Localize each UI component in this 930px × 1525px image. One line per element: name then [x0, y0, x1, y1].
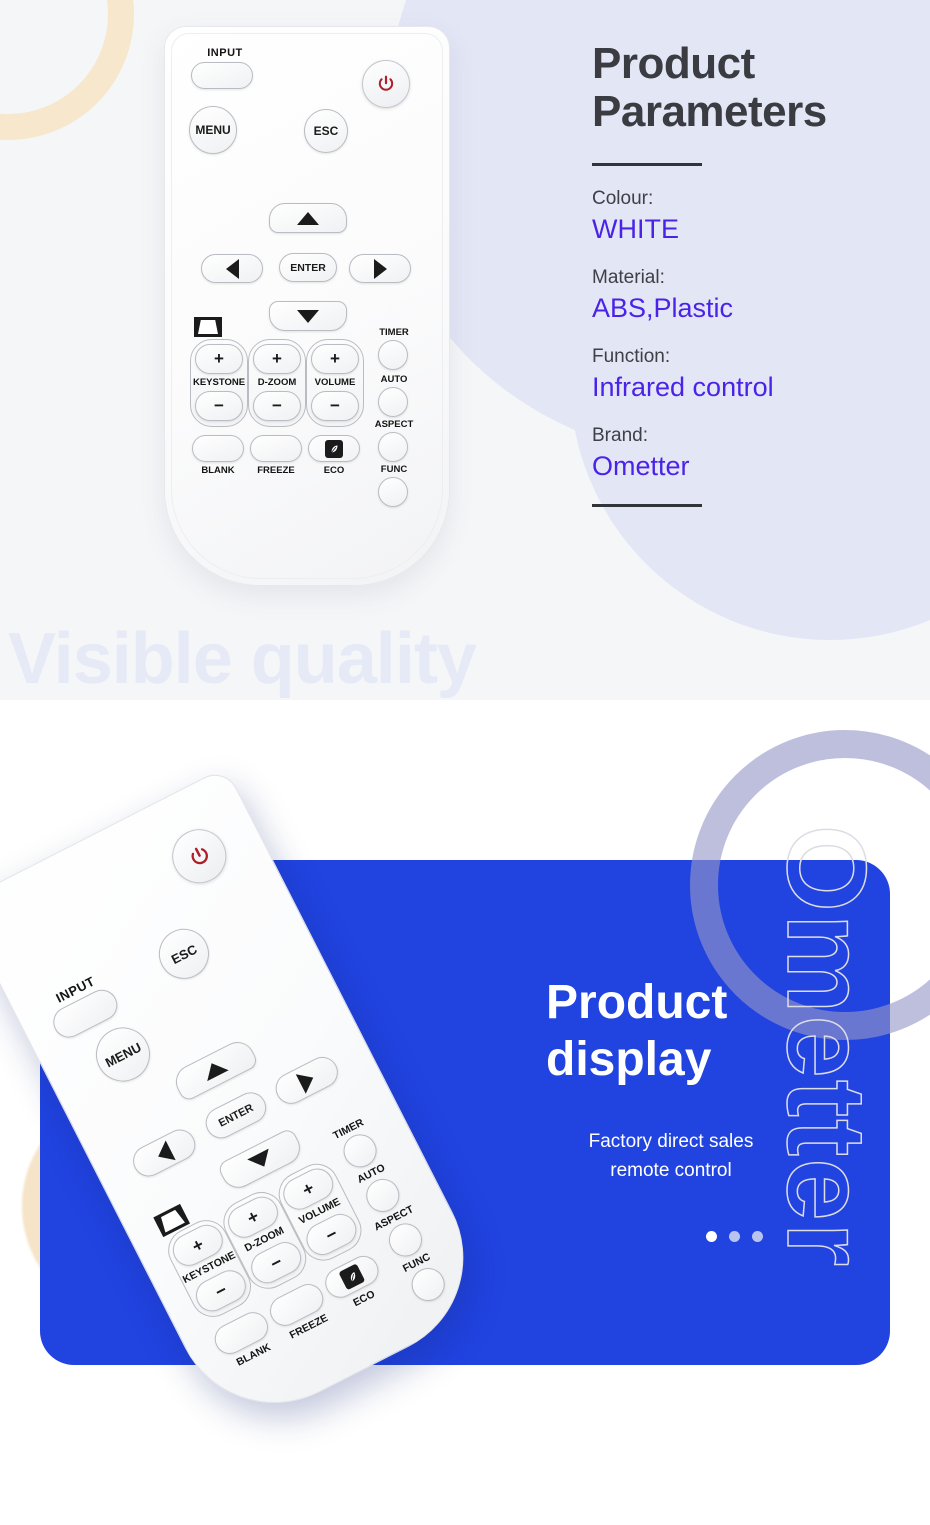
aspect-button[interactable] [378, 432, 408, 462]
carousel-dots[interactable] [706, 1231, 763, 1242]
carousel-dot-1[interactable] [706, 1231, 717, 1242]
spec-value-material: ABS,Plastic [592, 293, 912, 324]
title-divider [592, 163, 702, 166]
visible-quality-watermark: Visible quality [8, 618, 476, 700]
brand-watermark-vertical: Ometter [762, 825, 891, 1268]
keystone-glyph-icon [194, 317, 222, 337]
arrow-left-icon-b [153, 1140, 175, 1166]
power-button-b[interactable] [163, 820, 236, 893]
spec-key-brand: Brand: [592, 425, 912, 447]
input-button-label: INPUT [192, 47, 258, 59]
dzoom-minus-button[interactable]: − [253, 391, 301, 421]
page-title-line2: Parameters [592, 87, 827, 136]
menu-button-b[interactable]: MENU [87, 1018, 160, 1091]
spec-value-brand: Ometter [592, 451, 912, 482]
power-icon [376, 74, 396, 94]
spec-key-function: Function: [592, 346, 912, 368]
arrow-left-button[interactable] [201, 254, 263, 283]
eco-leaf-icon-b [338, 1263, 365, 1290]
arrow-up-icon [297, 212, 319, 225]
remote-control-image-top: INPUT MENU ESC ENTER [164, 26, 450, 586]
keystone-plus-button[interactable]: + [195, 344, 243, 374]
eco-leaf-icon [325, 440, 343, 458]
eco-label: ECO [302, 465, 366, 476]
arrow-up-icon-b [201, 1058, 229, 1081]
spec-value-colour: WHITE [592, 214, 912, 245]
aspect-label: ASPECT [363, 419, 425, 430]
arrow-left-button-b[interactable] [128, 1124, 201, 1182]
carousel-dot-3[interactable] [752, 1231, 763, 1242]
spec-key-colour: Colour: [592, 188, 912, 210]
display-title: Product display [546, 975, 727, 1088]
func-button[interactable] [378, 477, 408, 507]
arrow-down-icon-b [247, 1149, 275, 1172]
auto-button[interactable] [378, 387, 408, 417]
volume-minus-button[interactable]: − [311, 391, 359, 421]
func-label: FUNC [365, 464, 423, 475]
blank-label: BLANK [186, 465, 250, 476]
display-title-line2: display [546, 1033, 711, 1086]
esc-button[interactable]: ESC [304, 109, 348, 153]
arrow-right-icon-b [296, 1067, 318, 1093]
power-button[interactable] [362, 60, 410, 108]
freeze-button[interactable] [250, 435, 302, 462]
volume-plus-button[interactable]: + [311, 344, 359, 374]
enter-button[interactable]: ENTER [279, 253, 337, 282]
display-subtitle-line2: remote control [610, 1160, 731, 1181]
esc-button-b[interactable]: ESC [150, 920, 217, 987]
arrow-down-icon [297, 310, 319, 323]
arrow-right-button[interactable] [349, 254, 411, 283]
menu-button[interactable]: MENU [189, 106, 237, 154]
carousel-dot-2[interactable] [729, 1231, 740, 1242]
volume-label: VOLUME [303, 377, 367, 388]
dzoom-label: D-ZOOM [245, 377, 309, 388]
arrow-left-icon [226, 259, 239, 279]
cream-ring-decoration [0, 0, 134, 140]
spec-key-material: Material: [592, 267, 912, 289]
timer-label: TIMER [365, 327, 423, 338]
keystone-minus-button[interactable]: − [195, 391, 243, 421]
arrow-right-icon [374, 259, 387, 279]
freeze-label: FREEZE [244, 465, 308, 476]
page-title: Product Parameters [592, 40, 912, 137]
product-parameters-section: INPUT MENU ESC ENTER [0, 0, 930, 700]
arrow-up-button[interactable] [269, 203, 347, 233]
arrow-down-button[interactable] [269, 301, 347, 331]
display-subtitle-line1: Factory direct sales [589, 1131, 754, 1152]
auto-label: AUTO [365, 374, 423, 385]
power-icon-b [184, 841, 215, 872]
eco-button[interactable] [308, 435, 360, 462]
display-title-line1: Product [546, 976, 727, 1029]
spec-value-function: Infrared control [592, 372, 912, 403]
page-title-line1: Product [592, 39, 755, 88]
display-subtitle: Factory direct sales remote control [546, 1128, 796, 1185]
arrow-right-button-b[interactable] [270, 1052, 343, 1110]
bottom-divider [592, 504, 702, 507]
input-button[interactable] [191, 62, 253, 89]
keystone-label: KEYSTONE [187, 377, 251, 388]
blank-button[interactable] [192, 435, 244, 462]
dzoom-plus-button[interactable]: + [253, 344, 301, 374]
parameters-text-block: Product Parameters Colour: WHITE Materia… [592, 40, 912, 507]
enter-button-b[interactable]: ENTER [200, 1087, 271, 1144]
timer-button[interactable] [378, 340, 408, 370]
